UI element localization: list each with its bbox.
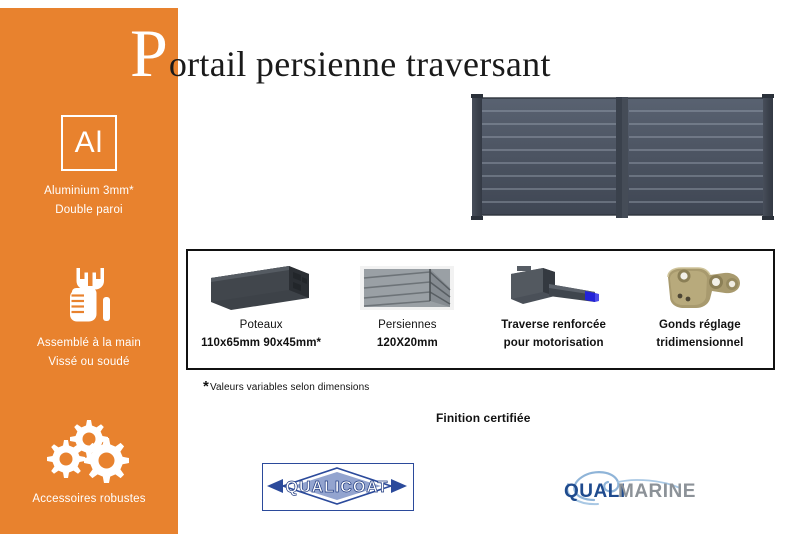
component-poteaux-dimensions: 110x65mm 90x45mm*: [201, 334, 321, 352]
qualimarine-logo: QUALI MARINE: [558, 466, 708, 510]
component-gonds-name: Gonds réglage: [659, 316, 741, 334]
component-poteaux: Poteaux 110x65mm 90x45mm*: [188, 251, 334, 368]
component-persiennes-name: Persiennes: [378, 316, 437, 334]
sidebar-feature-assembly: Assemblé à la main Vissé ou soudé: [0, 256, 178, 372]
footnote-asterisk: *: [203, 378, 209, 395]
qualicoat-logo-text: QUALICOAT: [286, 479, 389, 496]
component-persiennes-dimensions: 120X20mm: [377, 334, 438, 352]
qualimarine-logo-secondary: MARINE: [618, 481, 696, 502]
component-gonds: Gonds réglage tridimensionnel: [627, 251, 773, 368]
reinforced-crossbeam-image: [499, 260, 609, 316]
component-traverse: Traverse renforcée pour motorisation: [481, 251, 627, 368]
adjustable-hinge-image: [654, 260, 746, 316]
page-title: P ortail persienne traversant: [130, 22, 551, 84]
component-traverse-name: Traverse renforcée: [501, 316, 606, 334]
louvre-slats-image: [358, 260, 456, 316]
sidebar-feature-accessories: Accessoires robustes: [0, 412, 178, 509]
qualimarine-logo-primary: QUALI: [564, 481, 626, 502]
component-gonds-dimensions: tridimensionnel: [656, 334, 743, 352]
sidebar-feature-assembly-line1: Assemblé à la main: [0, 334, 178, 353]
footnote-text: Valeurs variables selon dimensions: [210, 382, 369, 393]
product-sheet-page: Al Aluminium 3mm* Double paroi: [0, 0, 800, 534]
gears-icon: [0, 412, 178, 490]
qualicoat-logo: QUALICOAT: [262, 463, 414, 511]
component-persiennes: Persiennes 120X20mm: [334, 251, 480, 368]
component-traverse-dimensions: pour motorisation: [504, 334, 604, 352]
sidebar-feature-aluminium: Al Aluminium 3mm* Double paroi: [0, 104, 178, 220]
page-title-text: ortail persienne traversant: [169, 41, 551, 87]
certification-heading: Finition certifiée: [436, 411, 530, 425]
louvre-gate-illustration: [470, 88, 776, 227]
sidebar-feature-assembly-line2: Vissé ou soudé: [0, 353, 178, 372]
footnote: *Valeurs variables selon dimensions: [203, 378, 369, 395]
post-profile-image: [205, 260, 317, 316]
sidebar-feature-aluminium-line1: Aluminium 3mm*: [0, 182, 178, 201]
hand-wrench-icon: [0, 256, 178, 334]
sidebar-feature-accessories-line1: Accessoires robustes: [0, 490, 178, 509]
page-title-initial: P: [130, 22, 168, 84]
sidebar-feature-aluminium-line2: Double paroi: [0, 201, 178, 220]
components-spec-box: Poteaux 110x65mm 90x45mm*: [186, 249, 775, 370]
aluminium-symbol-label: Al: [75, 128, 104, 158]
aluminium-square-icon: Al: [0, 104, 178, 182]
component-poteaux-name: Poteaux: [240, 316, 283, 334]
